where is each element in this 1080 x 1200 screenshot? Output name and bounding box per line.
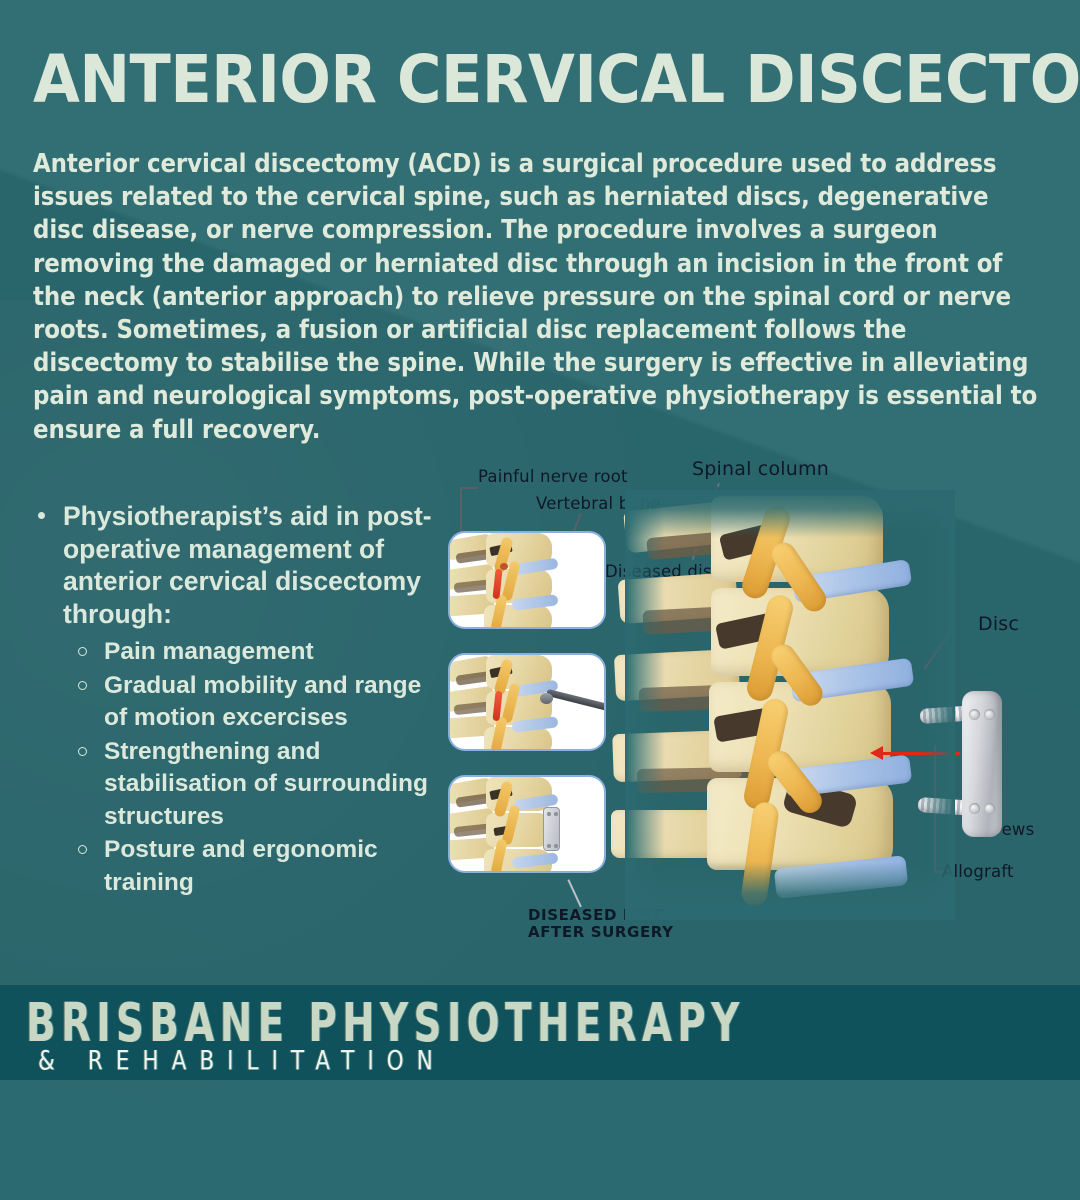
screw-hole-icon (969, 803, 980, 814)
benefits-list: Physiotherapist’s aid in post-operative … (30, 500, 450, 900)
bullet-ring-icon (78, 647, 87, 656)
brand-name-primary: BRISBANE PHYSIOTHERAPY (26, 996, 745, 1052)
arrow-head (870, 746, 883, 760)
illustration-fade-left (625, 490, 665, 920)
main-spine-illustration (625, 490, 955, 920)
caption-line-2: AFTER SURGERY (528, 923, 674, 941)
list-item-label: Posture and ergonomic training (104, 836, 378, 896)
screw-hole-icon (554, 812, 558, 816)
inset-scene-2 (450, 655, 604, 749)
list-item-pain-management: Pain management (78, 636, 450, 669)
bullet-ring-icon (78, 845, 87, 854)
inset-panel-disc-removal (448, 653, 606, 751)
bullet-ring-icon (78, 747, 87, 756)
inset-scene-1 (450, 533, 604, 627)
inflammation-spot (500, 563, 508, 570)
list-item-label: Strengthening and stabilisation of surro… (104, 738, 428, 830)
surgical-instrument (546, 689, 606, 712)
screw-hole-icon (984, 709, 995, 720)
brand-name-secondary: & REHABILITATION (38, 1047, 446, 1074)
screw-hole-icon (554, 844, 558, 848)
bullet-ring-icon (78, 681, 87, 690)
intro-paragraph: Anterior cervical discectomy (ACD) is a … (33, 148, 1047, 447)
list-item-posture: Posture and ergonomic training (78, 834, 450, 899)
list-item-label: Pain management (104, 638, 314, 665)
illustration-fade-right (921, 490, 955, 920)
label-painful-nerve-root: Painful nerve root (478, 467, 628, 486)
inset-panel-implant (448, 775, 606, 873)
inset-panel-diseased-disc (448, 531, 606, 629)
cervical-spine-diagram: Painful nerve root Vertebral bone Diseas… (430, 445, 1080, 955)
list-item-strengthening: Strengthening and stabilisation of surro… (78, 736, 450, 834)
implant-plate (962, 691, 1002, 837)
list-item-mobility: Gradual mobility and range of motion exc… (78, 670, 450, 735)
footer-brand-bar: BRISBANE PHYSIOTHERAPY & REHABILITATION (0, 985, 1080, 1080)
screw-hole-icon (547, 812, 551, 816)
screw-hole-icon (984, 803, 995, 814)
screw-hole-icon (547, 844, 551, 848)
leader-line-caption (567, 879, 581, 907)
leader-line-painful-nerve-root-tick (460, 487, 478, 489)
label-disc: Disc (978, 613, 1019, 635)
screw-hole-icon (969, 709, 980, 720)
illustration-fade-top (625, 490, 955, 538)
list-item-main-label: Physiotherapist’s aid in post-operative … (63, 501, 432, 629)
illustration-fade-bottom (625, 862, 955, 920)
surgical-instrument-tip (540, 693, 553, 704)
implant-plate (543, 807, 560, 851)
list-item-main: Physiotherapist’s aid in post-operative … (30, 500, 450, 630)
label-spinal-column: Spinal column (692, 458, 829, 480)
list-item-label: Gradual mobility and range of motion exc… (104, 672, 421, 732)
page-title: ANTERIOR CERVICAL DISCECTOMY (33, 47, 1073, 113)
inset-scene-3 (450, 777, 604, 871)
sub-list: Pain management Gradual mobility and ran… (30, 636, 450, 899)
bullet-dot-icon (38, 512, 45, 519)
